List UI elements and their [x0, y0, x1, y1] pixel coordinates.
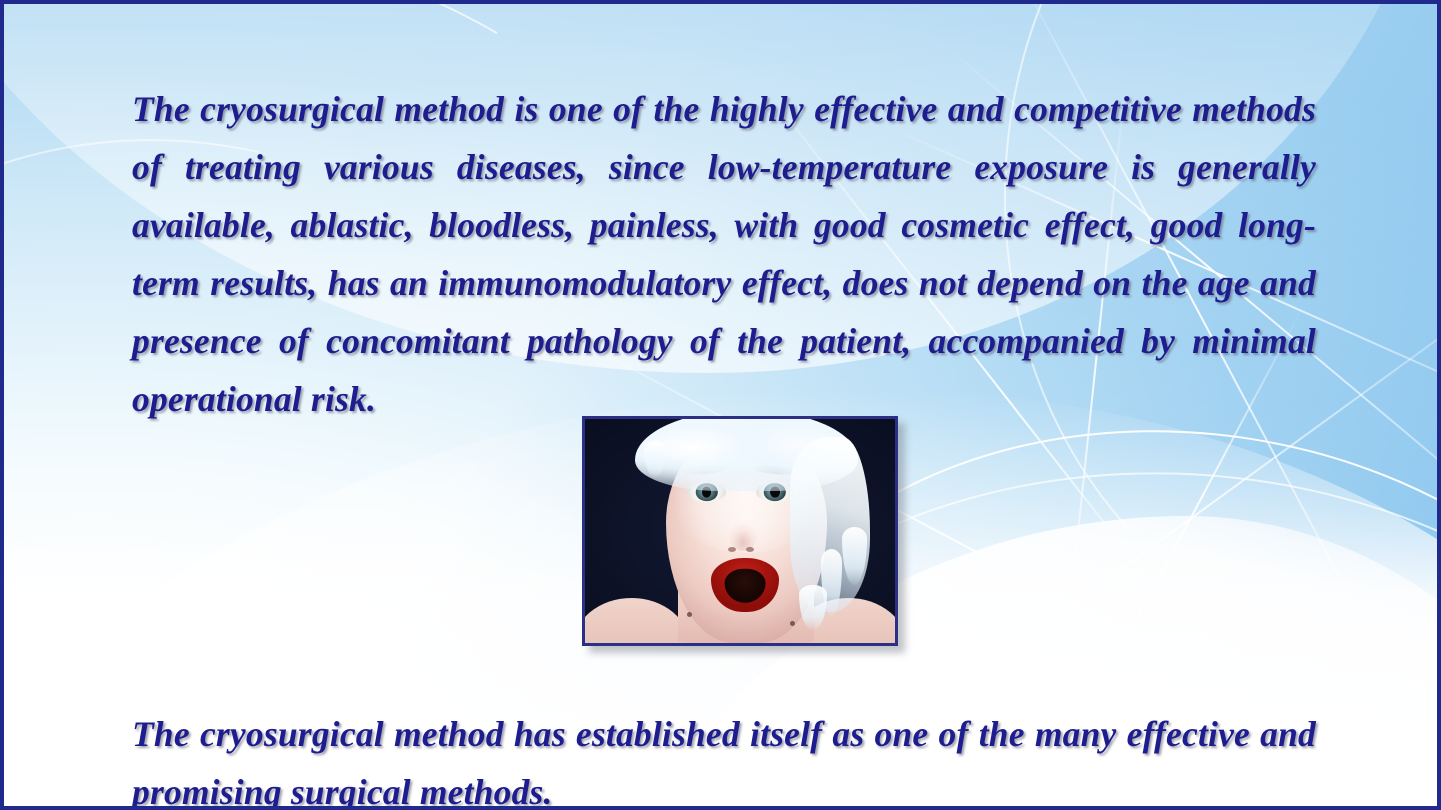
paragraph-bottom: The cryosurgical method has established … — [132, 705, 1316, 810]
photo-shoulder-left — [582, 598, 690, 646]
presentation-slide: The cryosurgical method is one of the hi… — [0, 0, 1441, 810]
photo-canvas — [585, 419, 895, 643]
slide-content: The cryosurgical method is one of the hi… — [4, 4, 1437, 806]
photo-open-mouth — [724, 569, 765, 603]
photo-nostril-left — [728, 547, 736, 552]
photo-mole-left — [687, 612, 692, 617]
photo-nostril-right — [746, 547, 754, 552]
photo-mole-right — [790, 621, 795, 626]
cryotherapy-photo — [582, 416, 898, 646]
paragraph-top: The cryosurgical method is one of the hi… — [132, 80, 1316, 428]
photo-lips — [711, 558, 779, 612]
